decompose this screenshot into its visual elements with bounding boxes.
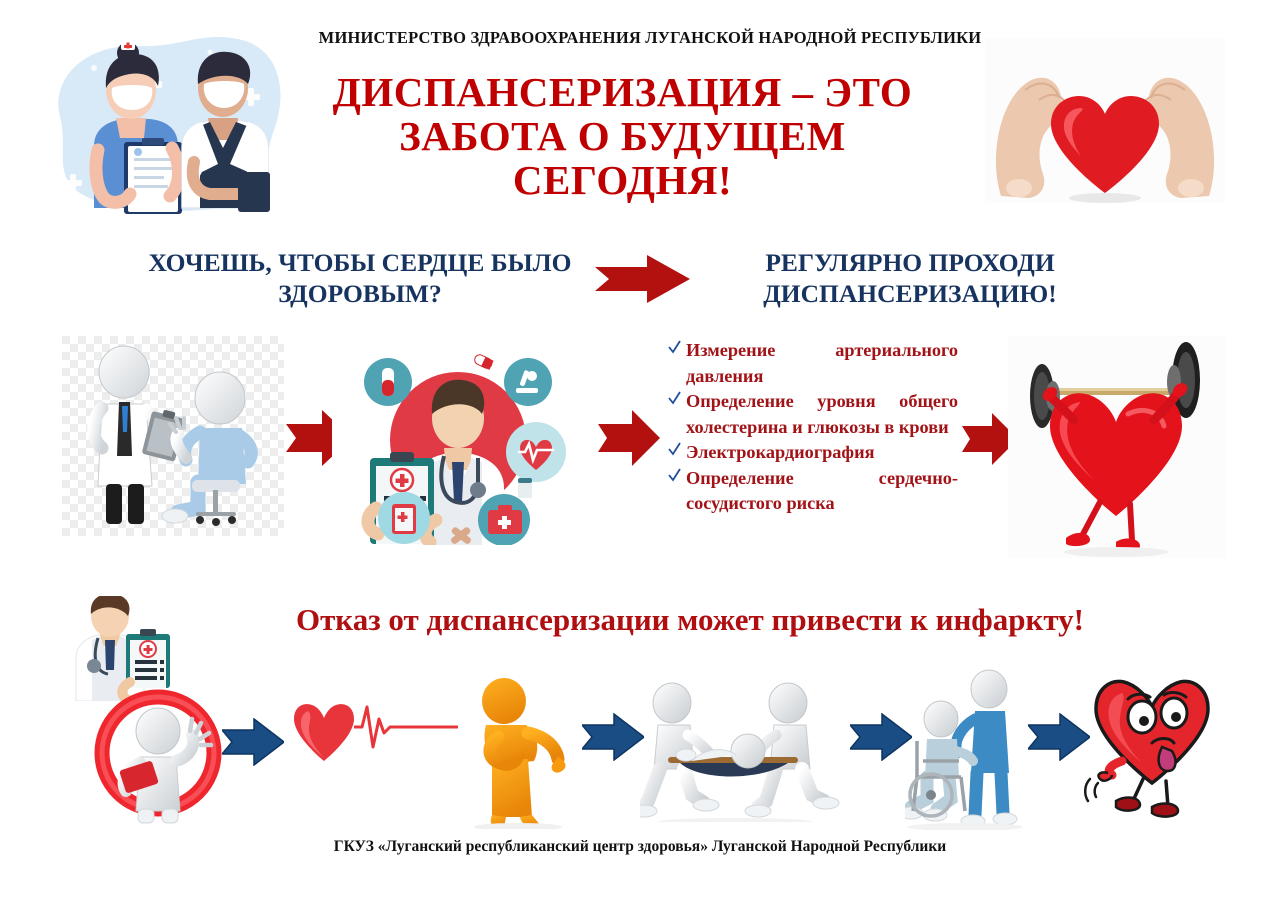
poster-canvas: МИНИСТЕРСТВО ЗДРАВООХРАНЕНИЯ ЛУГАНСКОЙ Н…	[0, 0, 1280, 905]
hands-holding-heart-photo	[985, 38, 1225, 203]
list-item-label: Измерение артериального давления	[686, 340, 958, 386]
check-mark-icon	[668, 441, 681, 457]
footer-organization: ГКУЗ «Луганский республиканский центр зд…	[140, 838, 1140, 856]
ministry-header: МИНИСТЕРСТВО ЗДРАВООХРАНЕНИЯ ЛУГАНСКОЙ Н…	[270, 28, 1030, 48]
check-mark-icon	[668, 339, 681, 355]
arrow-right-navy-icon	[582, 713, 644, 761]
doctor-patient-consultation-figures	[62, 336, 284, 536]
arrow-right-red-icon	[598, 408, 660, 468]
page-title-line-3: СЕГОДНЯ!	[290, 158, 955, 202]
arrow-right-red-icon	[595, 255, 690, 303]
list-item-label: Электрокардиография	[686, 442, 875, 462]
list-item-label: Определение уровня общего холестерина и …	[686, 391, 958, 437]
list-item: Определение уровня общего холестерина и …	[668, 389, 958, 440]
arrow-right-navy-icon	[222, 718, 284, 766]
list-item: Измерение артериального давления	[668, 338, 958, 389]
orange-figure-chest-pain	[462, 677, 582, 829]
heart-with-ecg-line	[288, 693, 458, 773]
page-title: ДИСПАНСЕРИЗАЦИЯ – ЭТО ЗАБОТА О БУДУЩЕМ С…	[290, 70, 955, 202]
doctors-pair-illustration	[42, 22, 292, 217]
figures-carrying-stretcher	[640, 677, 850, 822]
arrow-right-navy-icon	[1028, 713, 1090, 761]
check-mark-icon	[668, 390, 681, 406]
figure-in-prohibition-sign	[78, 687, 238, 827]
question-text: ХОЧЕШЬ, ЧТОБЫ СЕРДЦЕ БЫЛО ЗДОРОВЫМ?	[145, 247, 575, 309]
check-mark-icon	[668, 467, 681, 483]
list-item-label: Определение сердечно-сосудистого риска	[686, 468, 958, 514]
page-title-line-1: ДИСПАНСЕРИЗАЦИЯ – ЭТО	[290, 70, 955, 114]
doctor-with-medical-icons-illustration	[332, 340, 584, 545]
list-item: Определение сердечно-сосудистого риска	[668, 466, 958, 517]
answer-text: РЕГУЛЯРНО ПРОХОДИ ДИСПАНСЕРИЗАЦИЮ!	[700, 247, 1120, 309]
warning-title: Отказ от диспансеризации может привести …	[185, 602, 1195, 638]
consequence-sequence	[0, 655, 1280, 840]
arrow-right-navy-icon	[850, 713, 912, 761]
sick-sad-heart-cartoon	[1082, 665, 1222, 825]
page-title-line-2: ЗАБОТА О БУДУЩЕМ	[290, 114, 955, 158]
screening-checklist: Измерение артериального давления Определ…	[668, 338, 958, 517]
heart-lifting-barbell-photo	[1008, 336, 1226, 558]
nurse-with-wheelchair-patient	[905, 665, 1045, 830]
list-item: Электрокардиография	[668, 440, 958, 466]
